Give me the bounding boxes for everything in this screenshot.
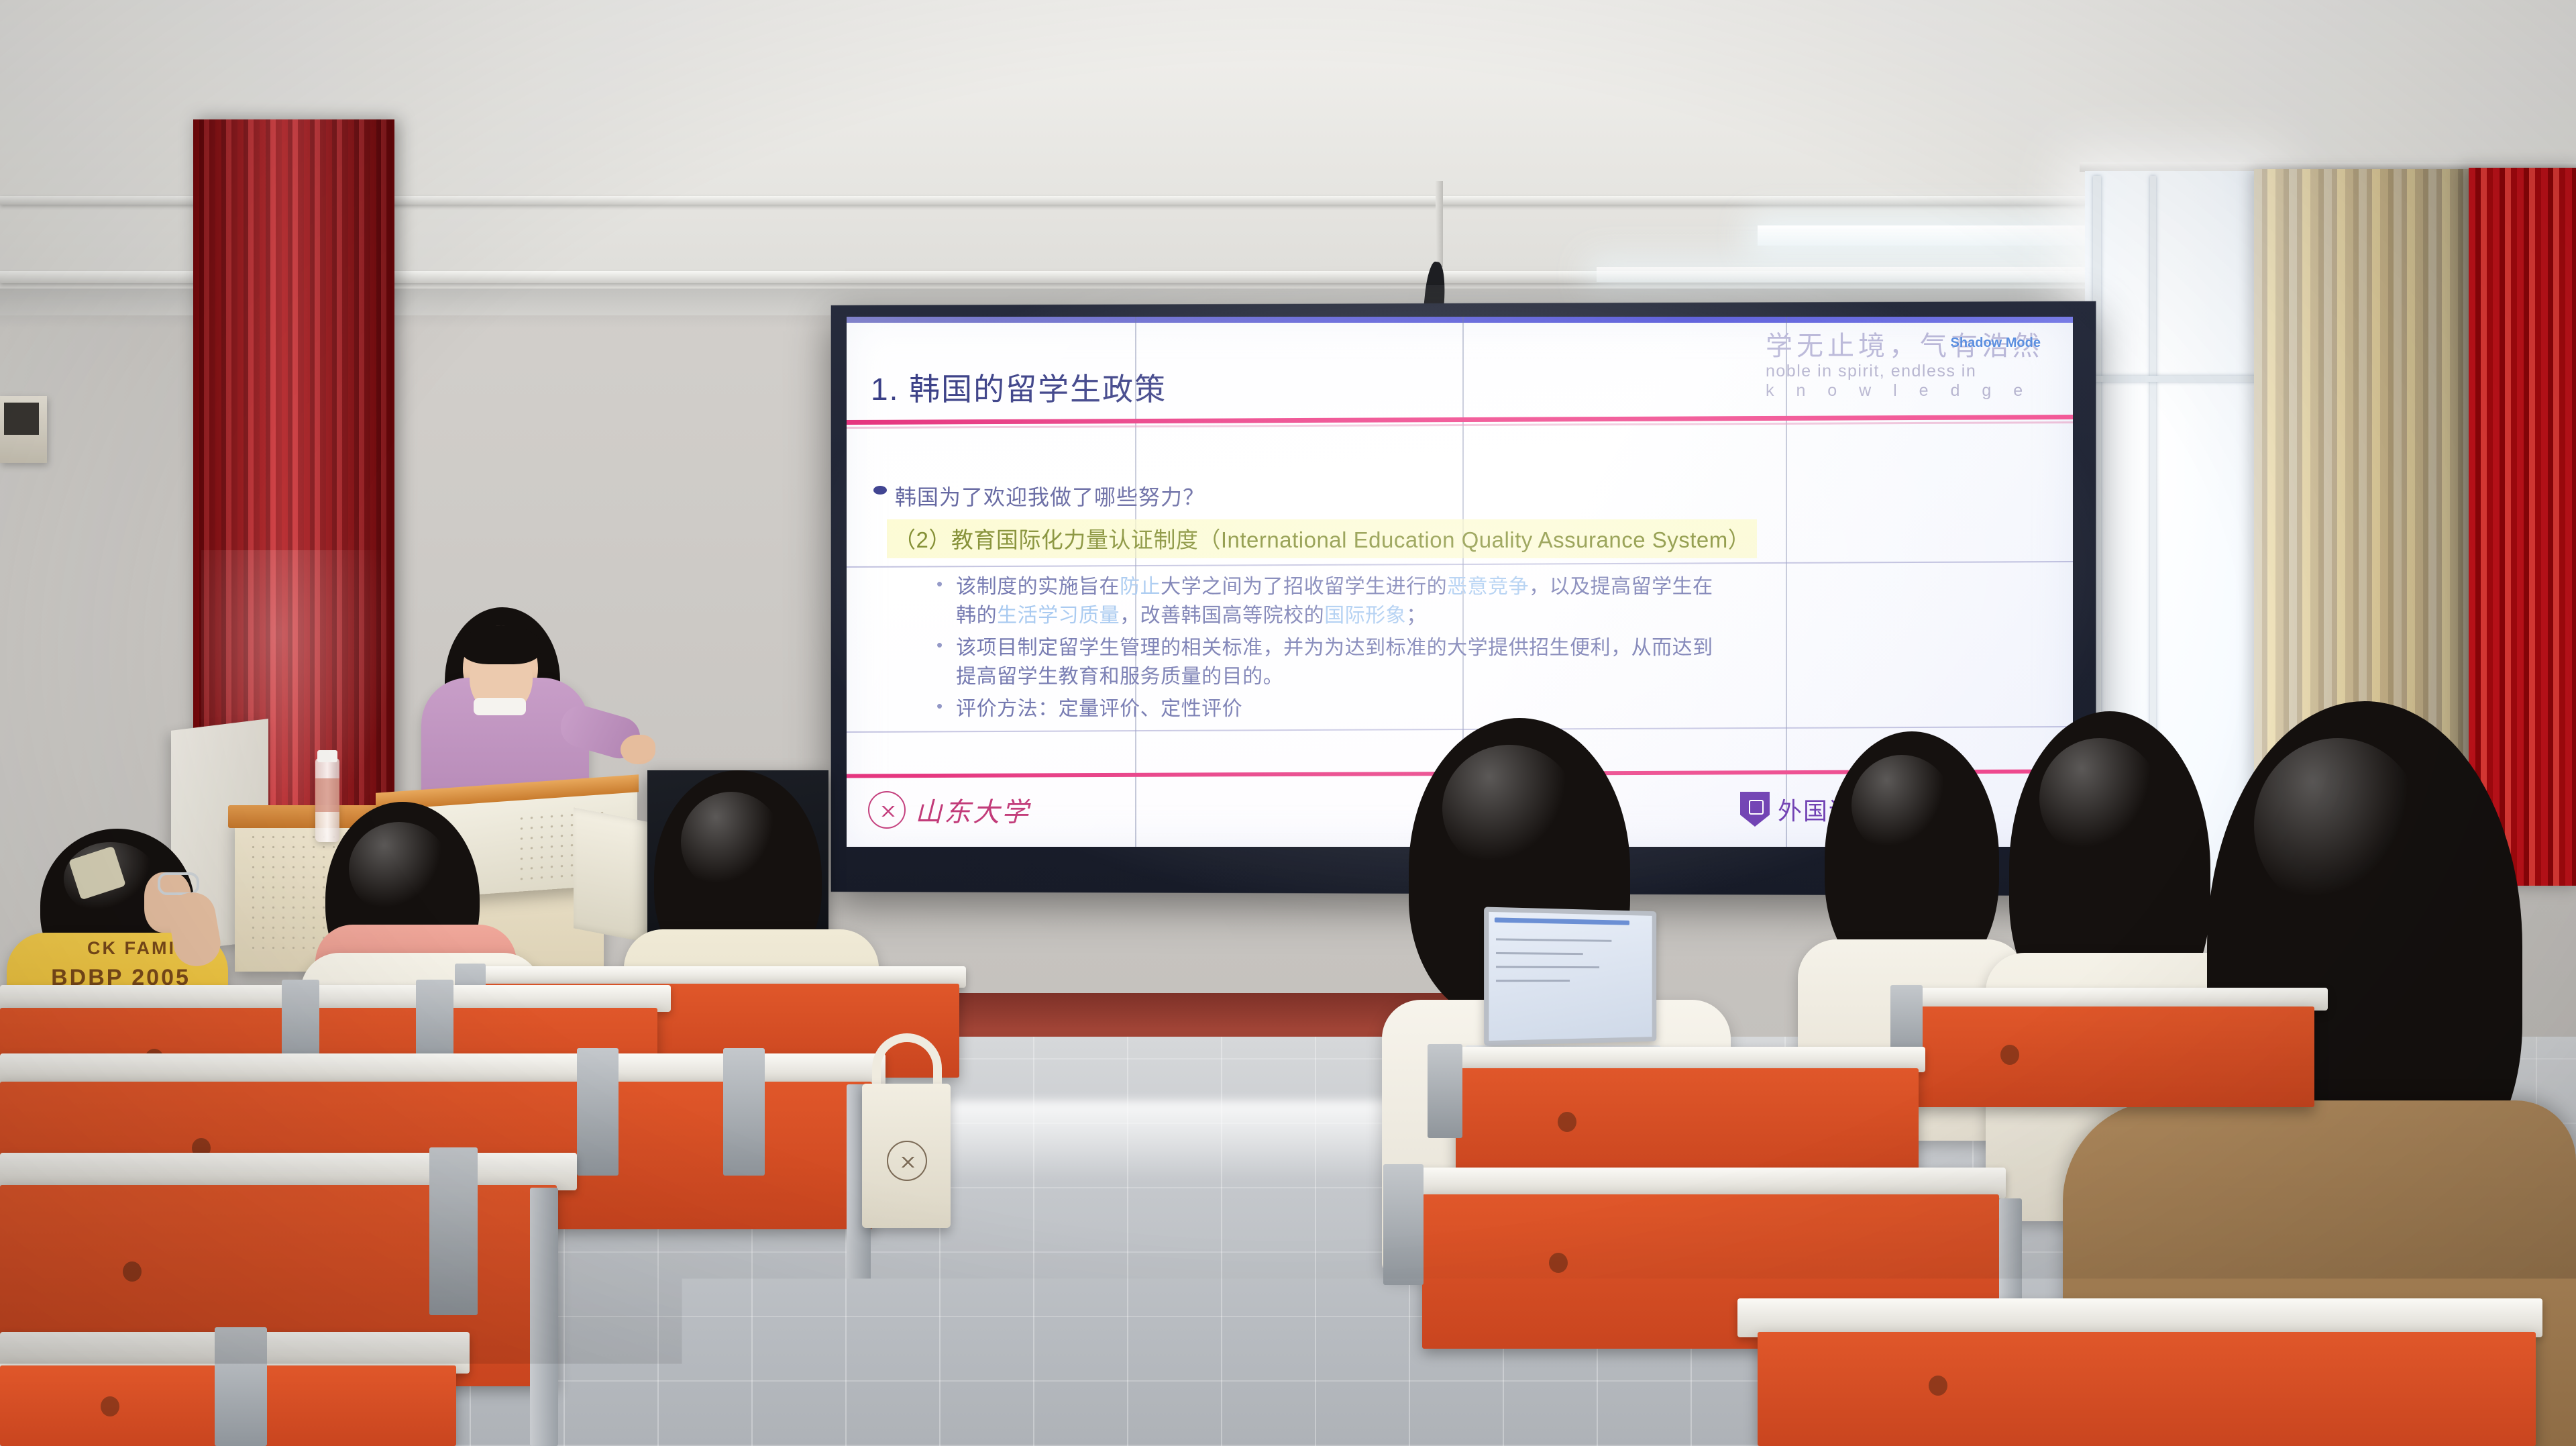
bullet-marker-icon xyxy=(873,486,887,495)
laptop-content-line-4 xyxy=(1496,980,1570,982)
desk-leg xyxy=(530,1188,558,1446)
body-paragraph-2: 该项目制定留学生管理的相关标准，并为为达到标准的大学提供招生便利，从而达到提高留… xyxy=(956,634,1713,691)
instructor-collar xyxy=(474,698,526,715)
slide-title: 1. 韩国的留学生政策 xyxy=(871,365,1167,409)
motto-english-line2: k n o w l e d g e xyxy=(1766,381,2054,401)
list-bullet-icon: • xyxy=(936,695,943,717)
slide-body-list: • 该制度的实施旨在防止大学之间为了招收留学生进行的恶意竞争，以及提高留学生在 … xyxy=(936,573,2023,728)
slide-bullet-question: 韩国为了欢迎我做了哪些努力？ xyxy=(895,480,1205,511)
desk-bracket xyxy=(215,1327,267,1446)
desk-bracket xyxy=(577,1048,619,1176)
instructor-bangs xyxy=(462,625,541,664)
shadow-mode-badge: Shadow Mode xyxy=(1951,335,2041,351)
university-motto-block: Shadow Mode 学无止境，气有浩然 noble in spirit, e… xyxy=(1766,331,2054,401)
lectern-side-panel xyxy=(574,807,654,943)
tote-bag-logo-icon xyxy=(887,1141,927,1181)
list-item: • 该项目制定留学生管理的相关标准，并为为达到标准的大学提供招生便利，从而达到提… xyxy=(936,634,2023,691)
school-shield-icon xyxy=(1740,792,1770,827)
desk-bracket xyxy=(1428,1044,1462,1138)
desk-bracket xyxy=(1383,1164,1424,1285)
body-paragraph-1: 该制度的实施旨在防止大学之间为了招收留学生进行的恶意竞争，以及提高留学生在 韩的… xyxy=(956,573,1713,630)
student-hair-sheen xyxy=(681,792,782,892)
body-paragraph-3: 评价方法：定量评价、定性评价 xyxy=(956,695,1242,724)
instructor-hand xyxy=(621,735,655,764)
desk-front-panel xyxy=(1912,1006,2314,1107)
water-bottle-cap xyxy=(317,750,337,762)
laptop-content-line-2 xyxy=(1496,952,1583,955)
laptop-titlebar xyxy=(1495,917,1629,925)
ceiling-mic-pole xyxy=(1436,181,1443,267)
wall-control-box-face xyxy=(4,403,39,435)
motto-english-line1: noble in spirit, endless in xyxy=(1766,362,2054,381)
classroom-photo-scene: 1. 韩国的留学生政策 Shadow Mode 学无止境，气有浩然 noble … xyxy=(0,0,2576,1446)
student-hair-sheen xyxy=(2254,738,2422,913)
desk-front-panel xyxy=(1456,1068,1919,1182)
university-seal-icon xyxy=(868,791,906,829)
laptop-content-line-3 xyxy=(1496,966,1599,969)
desk-front-panel xyxy=(1758,1332,2536,1446)
desk-bracket xyxy=(723,1048,765,1176)
list-bullet-icon: • xyxy=(936,573,943,595)
desk-bracket xyxy=(429,1147,478,1315)
student-hair-sheen xyxy=(2039,738,2160,859)
list-item: • 该制度的实施旨在防止大学之间为了招收留学生进行的恶意竞争，以及提高留学生在 … xyxy=(936,573,2023,630)
university-logo: 山东大学 xyxy=(868,790,1030,829)
water-bottle-label xyxy=(315,778,339,812)
laptop-content-line-1 xyxy=(1496,938,1612,941)
window-transom xyxy=(2093,376,2266,382)
student-hair-sheen xyxy=(349,822,449,916)
slide-divider-1 xyxy=(847,561,2073,568)
list-item: • 评价方法：定量评价、定性评价 xyxy=(936,695,2023,724)
slide-highlight-heading: （2）教育国际化力量认证制度（International Education Q… xyxy=(887,519,1757,558)
list-bullet-icon: • xyxy=(936,634,943,656)
university-name: 山东大学 xyxy=(915,790,1030,829)
eyeglasses-icon xyxy=(158,872,199,895)
right-red-curtain xyxy=(2469,168,2576,886)
laptop-screen[interactable] xyxy=(1484,907,1656,1045)
student-hair-sheen xyxy=(1442,745,1576,872)
student-hair-sheen xyxy=(1851,755,1952,856)
